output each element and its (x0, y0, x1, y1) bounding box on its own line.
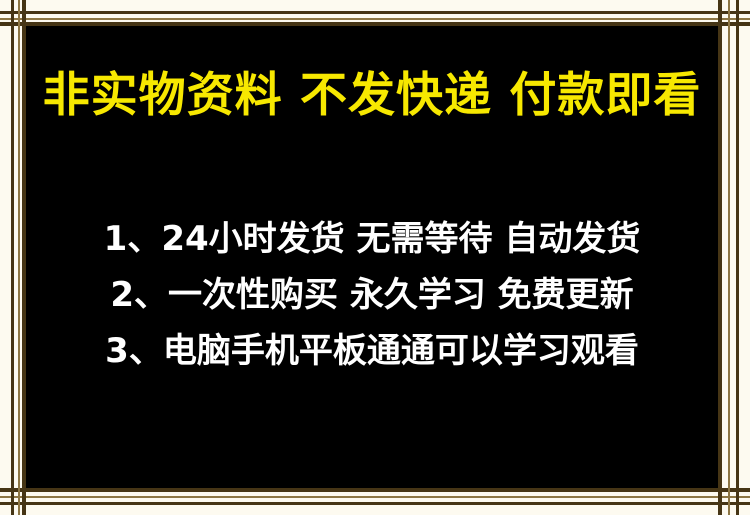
list-item: 2、一次性购买 永久学习 免费更新 (26, 278, 718, 312)
promo-banner: 非实物资料 不发快递 付款即看 1、24小时发货 无需等待 自动发货 2、一次性… (0, 0, 750, 515)
frame-rule-right-outer-tan (728, 0, 730, 515)
frame-rule-bottom-inner-dark (0, 488, 750, 492)
frame-rule-left-outer-tan (18, 0, 20, 515)
frame-rule-left-outer-dark (11, 0, 14, 515)
frame-rule-top-outer-tan (0, 18, 750, 20)
bullet-list: 1、24小时发货 无需等待 自动发货 2、一次性购买 永久学习 免费更新 3、电… (26, 222, 718, 368)
frame-rule-right-outer-dark (736, 0, 739, 515)
list-item: 3、电脑手机平板通通可以学习观看 (26, 334, 718, 368)
frame-rule-right-inner-dark (718, 0, 722, 515)
frame-rule-bottom-outer-tan (0, 496, 750, 498)
headline-text: 非实物资料 不发快递 付款即看 (26, 72, 718, 119)
black-stage: 非实物资料 不发快递 付款即看 1、24小时发货 无需等待 自动发货 2、一次性… (26, 26, 718, 488)
frame-rule-top-outer-dark (0, 11, 750, 14)
frame-rule-bottom-outer-dark (0, 502, 750, 505)
list-item: 1、24小时发货 无需等待 自动发货 (26, 222, 718, 256)
